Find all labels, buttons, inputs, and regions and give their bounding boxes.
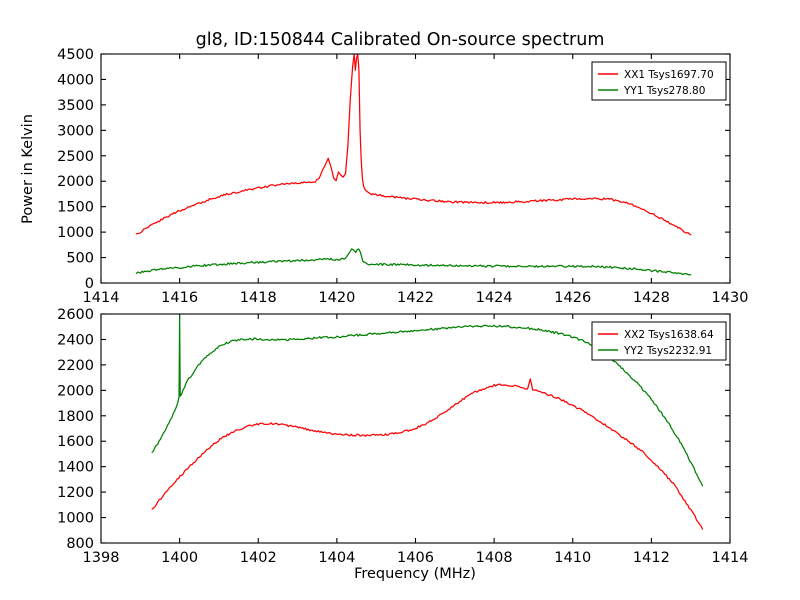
y-tick-label: 1200 [57, 485, 94, 501]
x-tick-label: 1408 [476, 550, 513, 566]
y-tick-label: 4500 [57, 47, 94, 63]
x-tick-label: 1430 [712, 290, 749, 306]
y-tick-label: 1400 [57, 460, 94, 476]
y-tick-label: 1500 [57, 200, 94, 216]
x-tick-label: 1428 [633, 290, 670, 306]
y-tick-label: 2500 [57, 149, 94, 165]
y-tick-label: 500 [66, 251, 94, 267]
x-tick-label: 1402 [240, 550, 277, 566]
y-tick-label: 1600 [57, 434, 94, 450]
figure-canvas: gl8, ID:150844 Calibrated On-source spec… [0, 0, 800, 600]
y-tick-label: 1800 [57, 409, 94, 425]
y-tick-label: 1000 [57, 225, 94, 241]
x-tick-label: 1418 [240, 290, 277, 306]
y-tick-label: 3500 [57, 98, 94, 114]
legend-entry-label: XX2 Tsys1638.64 [624, 329, 714, 341]
x-tick-label: 1426 [554, 290, 591, 306]
x-tick-label: 1414 [712, 550, 749, 566]
bottom-panel-legend[interactable]: XX2 Tsys1638.64YY2 Tsys2232.91 [592, 322, 726, 360]
x-tick-label: 1400 [161, 550, 198, 566]
y-tick-label: 3000 [57, 123, 94, 139]
legend-entry-label: XX1 Tsys1697.70 [624, 69, 714, 81]
x-tick-label: 1410 [554, 550, 591, 566]
x-axis-label-bottom: Frequency (MHz) [354, 566, 476, 582]
y-tick-label: 2400 [57, 332, 94, 348]
x-tick-label: 1398 [83, 550, 120, 566]
x-tick-label: 1404 [318, 550, 355, 566]
top-panel-legend[interactable]: XX1 Tsys1697.70YY1 Tsys278.80 [592, 62, 726, 100]
y-tick-label: 1000 [57, 511, 94, 527]
x-tick-label: 1424 [476, 290, 513, 306]
legend-entry-label: YY1 Tsys278.80 [623, 85, 705, 97]
y-tick-label: 800 [66, 536, 94, 552]
x-tick-label: 1412 [633, 550, 670, 566]
y-tick-label: 2600 [57, 307, 94, 323]
y-tick-label: 4000 [57, 72, 94, 88]
spectrum-figure: gl8, ID:150844 Calibrated On-source spec… [0, 0, 800, 600]
legend-entry-label: YY2 Tsys2232.91 [623, 345, 712, 357]
x-tick-label: 1414 [83, 290, 120, 306]
y-axis-label-top: Power in Kelvin [20, 114, 36, 224]
x-tick-label: 1422 [397, 290, 434, 306]
y-tick-label: 0 [85, 276, 94, 292]
x-tick-label: 1406 [397, 550, 434, 566]
y-tick-label: 2000 [57, 383, 94, 399]
x-tick-label: 1416 [161, 290, 198, 306]
page-title: gl8, ID:150844 Calibrated On-source spec… [196, 30, 605, 50]
x-tick-label: 1420 [318, 290, 355, 306]
y-tick-label: 2200 [57, 358, 94, 374]
y-tick-label: 2000 [57, 174, 94, 190]
